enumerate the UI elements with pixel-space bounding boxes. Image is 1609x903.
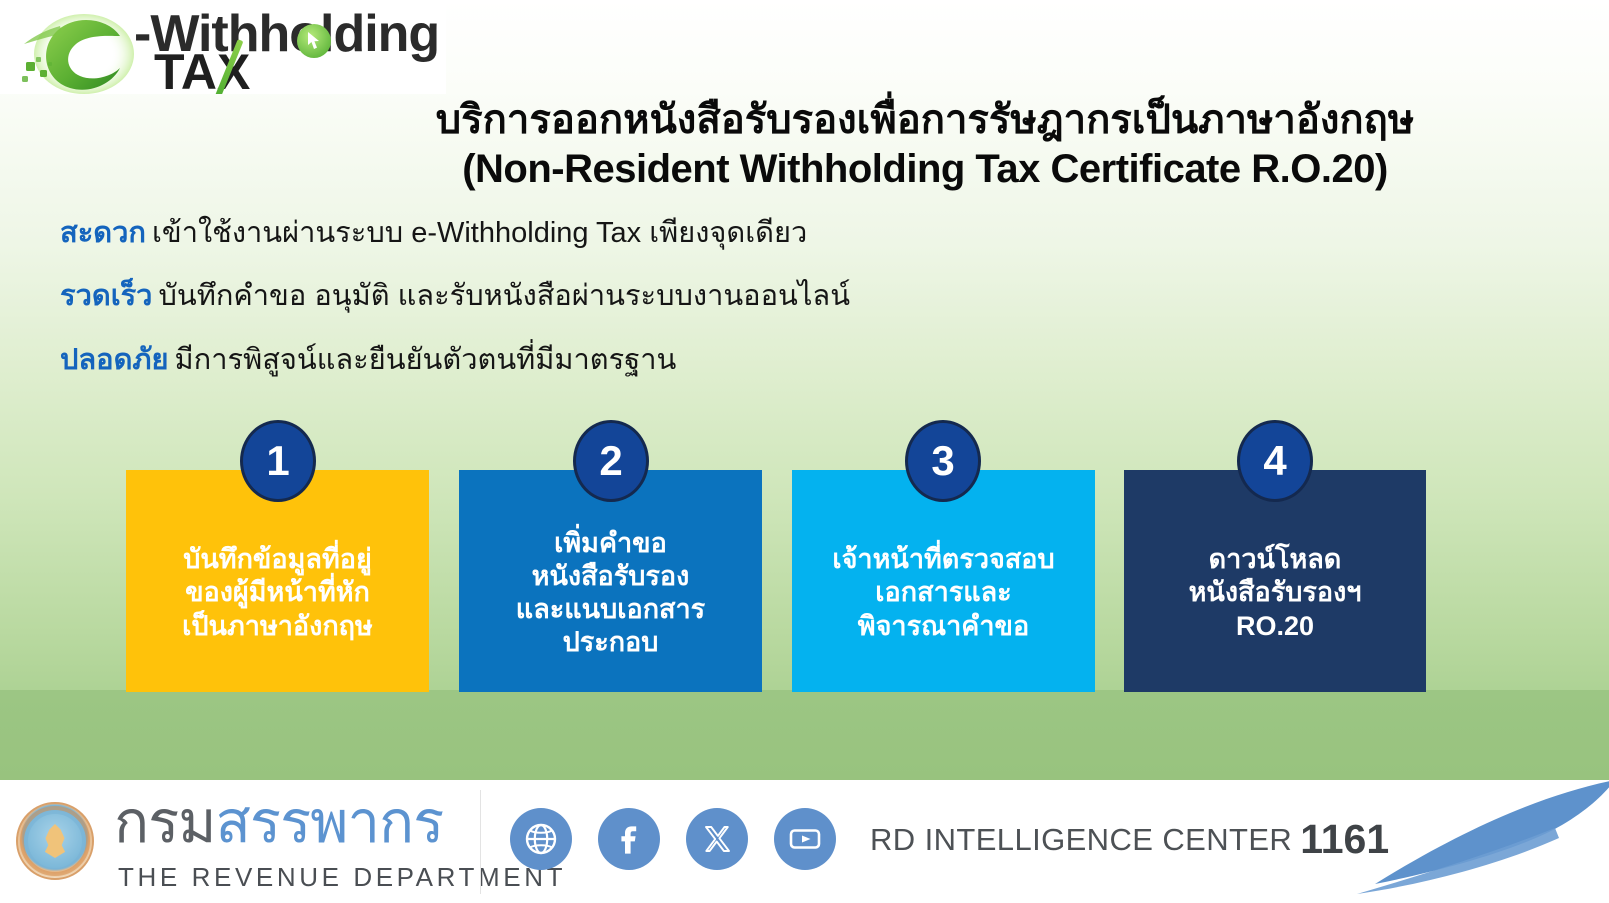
step-badge-1: 1: [240, 420, 316, 502]
step-badge-3: 3: [905, 420, 981, 502]
footer-bar: กรมสรรพากร THE REVENUE DEPARTMENT: [0, 780, 1609, 903]
benefit-item-2: รวดเร็วบันทึกคำขอ อนุมัติ และรับหนังสือผ…: [60, 281, 1160, 311]
step-badge-2: 2: [573, 420, 649, 502]
rd-intelligence-center: RD INTELLIGENCE CENTER1161: [870, 816, 1389, 863]
step-card-3: เจ้าหน้าที่ตรวจสอบ เอกสารและ พิจารณาคำขอ: [792, 470, 1095, 692]
revenue-department-wordmark-en: THE REVENUE DEPARTMENT: [118, 862, 566, 893]
rdic-label: RD INTELLIGENCE CENTER: [870, 822, 1292, 857]
benefit-keyword-2: รวดเร็ว: [60, 280, 152, 312]
benefit-text-1: เข้าใช้งานผ่านระบบ e-Withholding Tax เพี…: [152, 217, 807, 249]
step-card-1: บันทึกข้อมูลที่อยู่ ของผู้มีหน้าที่หัก เ…: [126, 470, 429, 692]
step-label-2: เพิ่มคำขอ หนังสือรับรอง และแนบเอกสาร ประ…: [516, 527, 705, 660]
step-card-4: ดาวน์โหลด หนังสือรับรองฯ RO.20: [1124, 470, 1426, 692]
benefit-keyword-3: ปลอดภัย: [60, 344, 169, 376]
green-band: [0, 690, 1609, 780]
page-title: บริการออกหนังสือรับรองเพื่อการรัษฎากรเป็…: [260, 96, 1590, 194]
benefit-text-2: บันทึกคำขอ อนุมัติ และรับหนังสือผ่านระบบ…: [158, 280, 850, 312]
x-twitter-icon[interactable]: [686, 808, 748, 870]
benefit-item-1: สะดวกเข้าใช้งานผ่านระบบ e-Withholding Ta…: [60, 218, 1160, 248]
org-name-suffix: สรรพากร: [216, 790, 444, 855]
step-badge-4: 4: [1237, 420, 1313, 502]
org-name-prefix: กรม: [114, 790, 216, 855]
footer-divider: [480, 790, 481, 894]
benefit-item-3: ปลอดภัยมีการพิสูจน์และยืนยันตัวตนที่มีมา…: [60, 345, 1160, 375]
title-thai: บริการออกหนังสือรับรองเพื่อการรัษฎากรเป็…: [260, 96, 1590, 145]
infographic-poster: -Withholding TAX บริการออกหนังสือรับรองเ…: [0, 0, 1609, 903]
logo-e-icon: [20, 10, 138, 94]
step-card-2: เพิ่มคำขอ หนังสือรับรอง และแนบเอกสาร ประ…: [459, 470, 762, 692]
step-label-3: เจ้าหน้าที่ตรวจสอบ เอกสารและ พิจารณาคำขอ: [832, 543, 1054, 643]
process-steps: บันทึกข้อมูลที่อยู่ ของผู้มีหน้าที่หัก เ…: [0, 420, 1609, 700]
cursor-click-icon: [297, 24, 331, 58]
benefit-text-3: มีการพิสูจน์และยืนยันตัวตนที่มีมาตรฐาน: [175, 344, 677, 376]
e-withholding-tax-logo: -Withholding TAX: [0, 0, 446, 94]
benefit-keyword-1: สะดวก: [60, 217, 146, 249]
youtube-icon[interactable]: [774, 808, 836, 870]
revenue-department-wordmark-th: กรมสรรพากร: [114, 794, 443, 852]
website-icon[interactable]: [510, 808, 572, 870]
revenue-department-seal-icon: [16, 802, 94, 880]
benefit-list: สะดวกเข้าใช้งานผ่านระบบ e-Withholding Ta…: [60, 218, 1160, 408]
title-english: (Non-Resident Withholding Tax Certificat…: [260, 145, 1590, 194]
step-label-4: ดาวน์โหลด หนังสือรับรองฯ RO.20: [1189, 543, 1362, 643]
rdic-phone-number: 1161: [1300, 816, 1389, 862]
social-links: [510, 808, 836, 870]
facebook-icon[interactable]: [598, 808, 660, 870]
step-label-1: บันทึกข้อมูลที่อยู่ ของผู้มีหน้าที่หัก เ…: [182, 543, 373, 643]
